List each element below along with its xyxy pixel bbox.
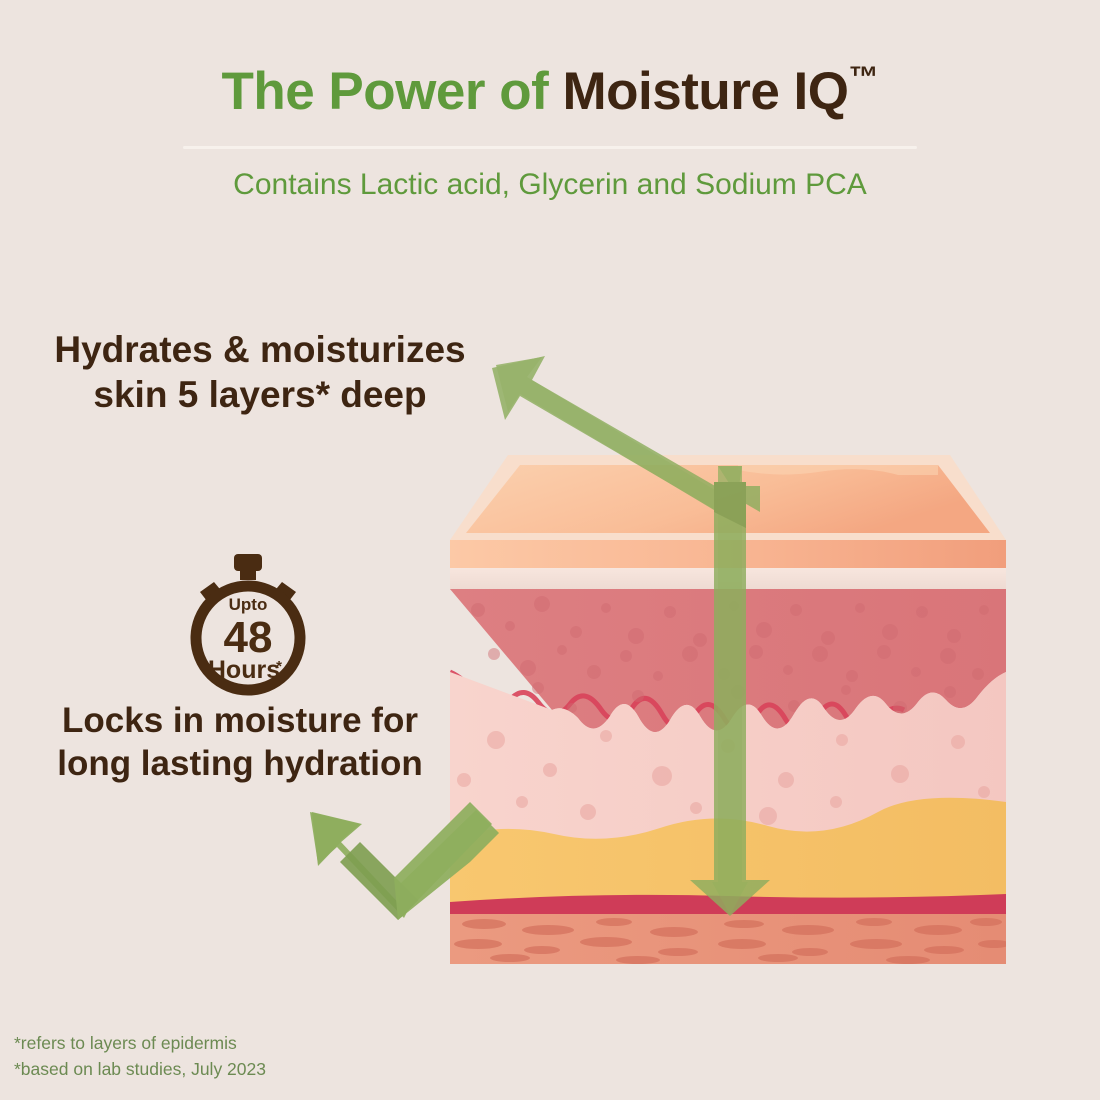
badge-upto-label: Upto bbox=[229, 595, 268, 614]
infographic-canvas: The Power of Moisture IQ™ Contains Lacti… bbox=[0, 0, 1100, 1100]
skin-body bbox=[450, 538, 1010, 964]
callout-hydrates-line1: Hydrates & moisturizes bbox=[54, 329, 465, 370]
callout-locks-line1: Locks in moisture for bbox=[62, 701, 418, 740]
trademark-symbol: ™ bbox=[849, 61, 879, 94]
layer-muscle bbox=[450, 914, 1006, 964]
callout-hydrates-line2-pre: skin bbox=[93, 374, 177, 415]
badge-unit: Hours bbox=[208, 656, 280, 684]
title-divider bbox=[183, 146, 917, 149]
callout-hydrates-line2-post: deep bbox=[330, 374, 427, 415]
callout-locks: Locks in moisture for long lasting hydra… bbox=[0, 700, 480, 785]
layer-epidermis bbox=[450, 538, 1006, 570]
layer-stratum-granulosum bbox=[450, 568, 1006, 590]
callout-hydrates: Hydrates & moisturizes skin 5 layers* de… bbox=[0, 327, 520, 417]
stopwatch-stem bbox=[240, 568, 256, 580]
callout-hydrates-emphasis: 5 layers* bbox=[178, 374, 330, 415]
title-brown-part: Moisture IQ bbox=[562, 62, 848, 121]
callout-locks-line2: long lasting hydration bbox=[57, 744, 423, 783]
skin-cross-section-diagram bbox=[438, 440, 1018, 980]
top-face bbox=[466, 465, 990, 533]
badge-asterisk: * bbox=[276, 658, 282, 675]
callout-hydrates-line2: skin 5 layers* deep bbox=[0, 372, 520, 417]
page-title: The Power of Moisture IQ™ bbox=[0, 62, 1100, 120]
title-green-part: The Power of bbox=[221, 62, 562, 121]
footnotes: *refers to layers of epidermis *based on… bbox=[14, 1030, 266, 1083]
badge-number: 48 bbox=[224, 613, 273, 662]
footnote-line-2: *based on lab studies, July 2023 bbox=[14, 1056, 266, 1082]
skin-top-slab bbox=[450, 455, 1006, 540]
footnote-line-1: *refers to layers of epidermis bbox=[14, 1030, 266, 1056]
stopwatch-icon: Upto 48 Hours * bbox=[178, 552, 318, 697]
subtitle: Contains Lactic acid, Glycerin and Sodiu… bbox=[0, 168, 1100, 202]
